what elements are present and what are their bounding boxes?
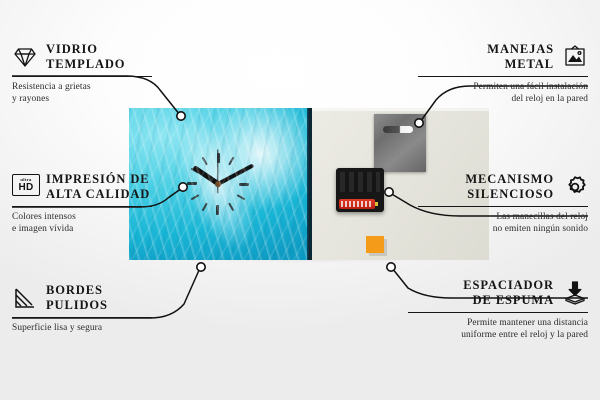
feature-heading: ultra HD IMPRESIÓN DE ALTA CALIDAD <box>12 172 152 203</box>
feature-title: IMPRESIÓN DE ALTA CALIDAD <box>46 172 150 203</box>
feature-title-line2: DE ESPUMA <box>473 293 554 307</box>
feature-desc-line2: e imagen vívida <box>12 224 73 234</box>
feature-title-line1: ESPACIADOR <box>463 278 554 292</box>
ultra-hd-icon: ultra HD <box>12 174 38 200</box>
feature-description: Permite mantener una distancia uniforme … <box>408 317 588 342</box>
ultra-hd-icon-main-text: HD <box>18 183 33 193</box>
feature-impresion-alta-calidad: ultra HD IMPRESIÓN DE ALTA CALIDAD Color… <box>12 172 152 235</box>
clock-tick <box>202 157 235 212</box>
feature-description: Permiten una fácil instalación del reloj… <box>418 81 588 106</box>
feature-title-line1: MANEJAS <box>487 42 554 56</box>
clock-hour-hand <box>192 165 220 186</box>
hanger-slot <box>383 126 413 133</box>
feature-title-line1: MECANISMO <box>465 172 554 186</box>
polished-edges-icon <box>12 285 38 311</box>
clock-center-cap <box>215 181 221 187</box>
feature-title-line2: ALTA CALIDAD <box>46 187 150 201</box>
arrow-down-foam-icon <box>562 280 588 306</box>
clock-tick <box>191 168 246 201</box>
feature-rule <box>418 206 588 208</box>
feature-title-line2: METAL <box>505 57 554 71</box>
feature-rule <box>12 206 152 208</box>
feature-title-line2: TEMPLADO <box>46 57 125 71</box>
feature-description: Colores intensos e imagen vívida <box>12 211 152 236</box>
feature-title: BORDES PULIDOS <box>46 283 108 314</box>
feature-espaciador-espuma: ESPACIADOR DE ESPUMA Permite mantener un… <box>408 278 588 341</box>
feature-title: MANEJAS METAL <box>487 42 554 73</box>
feature-mecanismo-silencioso: MECANISMO SILENCIOSO Las manecillas del … <box>418 172 588 235</box>
feature-title: MECANISMO SILENCIOSO <box>465 172 554 203</box>
feature-desc-line1: Permite mantener una distancia <box>467 318 588 328</box>
feature-title: VIDRIO TEMPLADO <box>46 42 125 73</box>
metal-hanger-plate <box>374 114 426 172</box>
clock-tick <box>217 153 219 215</box>
feature-heading: BORDES PULIDOS <box>12 283 152 314</box>
feature-desc-line1: Colores intensos <box>12 212 76 222</box>
feature-desc-line2: y rayones <box>12 94 49 104</box>
feature-title-line1: VIDRIO <box>46 42 98 56</box>
battery <box>339 199 375 209</box>
clock-tick <box>202 157 235 212</box>
clock-tick <box>191 168 246 201</box>
feature-rule <box>418 76 588 78</box>
panel-glow <box>131 108 302 260</box>
foam-spacer <box>366 236 384 253</box>
clock-tick <box>191 168 246 201</box>
feature-desc-line2: uniforme entre el reloj y la pared <box>461 330 588 340</box>
feature-title-line1: IMPRESIÓN DE <box>46 172 150 186</box>
clock-face <box>129 108 307 260</box>
feature-description: Superficie lisa y segura <box>12 322 152 334</box>
feature-description: Las manecillas del reloj no emiten ningú… <box>418 211 588 236</box>
feature-desc-line1: Resistencia a grietas <box>12 82 91 92</box>
feature-heading: VIDRIO TEMPLADO <box>12 42 152 73</box>
feature-desc-line1: Permiten una fácil instalación <box>473 82 588 92</box>
feature-rule <box>12 76 152 78</box>
feature-rule <box>408 312 588 314</box>
feature-heading: MANEJAS METAL <box>418 42 588 73</box>
feature-heading: ESPACIADOR DE ESPUMA <box>408 278 588 309</box>
battery-label <box>341 201 373 207</box>
movement-vents <box>340 172 380 192</box>
feature-description: Resistencia a grietas y rayones <box>12 81 152 106</box>
diamond-icon <box>12 44 38 70</box>
infographic-stage: VIDRIO TEMPLADO Resistencia a grietas y … <box>0 0 600 400</box>
clock-tick <box>202 157 235 212</box>
clock-front-panel <box>129 108 307 260</box>
feature-title: ESPACIADOR DE ESPUMA <box>463 278 554 309</box>
feature-rule <box>12 317 152 319</box>
picture-frame-hanger-icon <box>562 44 588 70</box>
feature-desc-line2: del reloj en la pared <box>511 94 588 104</box>
clock-tick <box>202 157 235 212</box>
clock-minute-hand <box>217 163 254 185</box>
clock-tick <box>187 183 249 185</box>
feature-title-line2: PULIDOS <box>46 298 108 312</box>
feature-manejas-metal: MANEJAS METAL Permiten una fácil instala… <box>418 42 588 105</box>
feature-bordes-pulidos: BORDES PULIDOS Superficie lisa y segura <box>12 283 152 334</box>
feature-desc-line1: Superficie lisa y segura <box>12 323 102 333</box>
feature-desc-line2: no emiten ningún sonido <box>493 224 588 234</box>
clock-tick <box>187 183 249 185</box>
gear-icon <box>562 174 588 200</box>
clock-tick <box>217 153 219 215</box>
feature-desc-line1: Las manecillas del reloj <box>496 212 588 222</box>
clock-tick <box>191 168 246 201</box>
quartz-movement <box>336 168 384 212</box>
feature-title-line1: BORDES <box>46 283 103 297</box>
feature-title-line2: SILENCIOSO <box>467 187 554 201</box>
clock-second-hand <box>217 149 218 193</box>
panel-highlight <box>312 108 489 111</box>
feature-heading: MECANISMO SILENCIOSO <box>418 172 588 203</box>
feature-vidrio-templado: VIDRIO TEMPLADO Resistencia a grietas y … <box>12 42 152 105</box>
